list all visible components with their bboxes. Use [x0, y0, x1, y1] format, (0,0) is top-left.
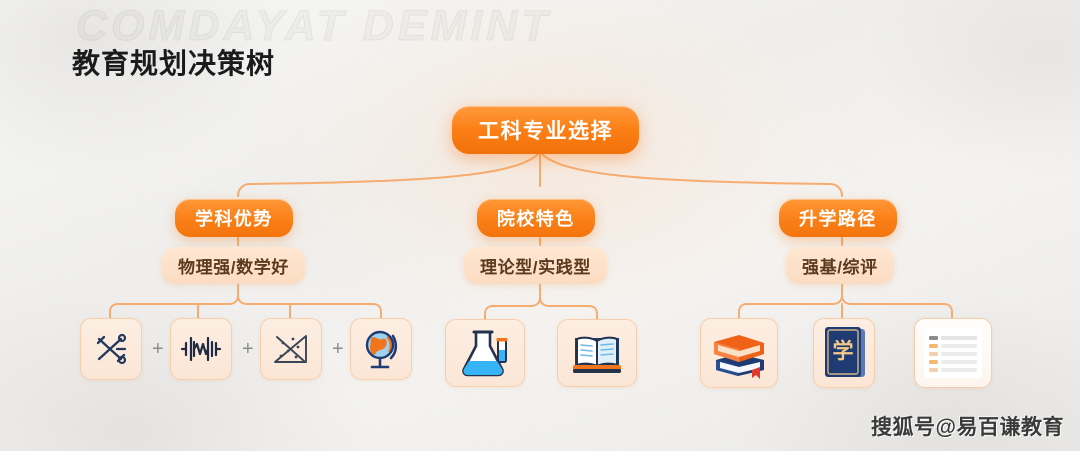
leaf-separator-plus: + [152, 339, 164, 359]
branch-label: 院校特色 [497, 205, 575, 231]
leaf-document-list-icon[interactable] [914, 318, 992, 388]
study-book-glyph: 学 [833, 339, 854, 363]
globe-icon [360, 327, 402, 371]
open-book-icon [569, 328, 625, 378]
leaf-separator-plus: + [242, 339, 254, 359]
leaf-separator-plus: + [332, 339, 344, 359]
study-book-icon: 学 [817, 324, 871, 382]
branch-label: 升学路径 [799, 205, 877, 231]
branch-school-character[interactable]: 院校特色 [477, 199, 595, 237]
leaf-flask-icon[interactable] [445, 319, 525, 387]
page-title: 教育规划决策树 [72, 42, 275, 82]
leaf-stacked-books-icon[interactable] [700, 318, 778, 388]
sub-node-school-character[interactable]: 理论型/实践型 [464, 247, 607, 284]
root-node-label: 工科专业选择 [478, 115, 613, 145]
leaf-crossed-tools-icon[interactable] [80, 318, 142, 380]
sub-node-label: 物理强/数学好 [178, 253, 289, 278]
bottom-watermark: 搜狐号@易百谦教育 [871, 411, 1064, 441]
root-node[interactable]: 工科专业选择 [452, 106, 639, 154]
sub-node-advancement-path[interactable]: 强基/综评 [786, 247, 894, 284]
document-list-icon [922, 326, 984, 380]
leaf-study-book-icon[interactable]: 学 [813, 318, 875, 388]
sub-node-label: 强基/综评 [802, 253, 878, 278]
sub-node-label: 理论型/实践型 [480, 253, 591, 278]
leaf-open-book-icon[interactable] [557, 319, 637, 387]
flask-icon [458, 328, 512, 378]
branch-advancement-path[interactable]: 升学路径 [779, 199, 897, 237]
branch-subject-strength[interactable]: 学科优势 [175, 199, 293, 237]
crossed-tools-icon [92, 330, 130, 368]
circuit-icon [180, 333, 222, 365]
geometry-graph-icon [271, 330, 311, 368]
branch-label: 学科优势 [195, 205, 273, 231]
leaf-globe-icon[interactable] [350, 318, 412, 380]
stacked-books-icon [708, 326, 770, 380]
leaf-circuit-icon[interactable] [170, 318, 232, 380]
leaf-geometry-graph-icon[interactable] [260, 318, 322, 380]
sub-node-subject-strength[interactable]: 物理强/数学好 [162, 247, 305, 284]
